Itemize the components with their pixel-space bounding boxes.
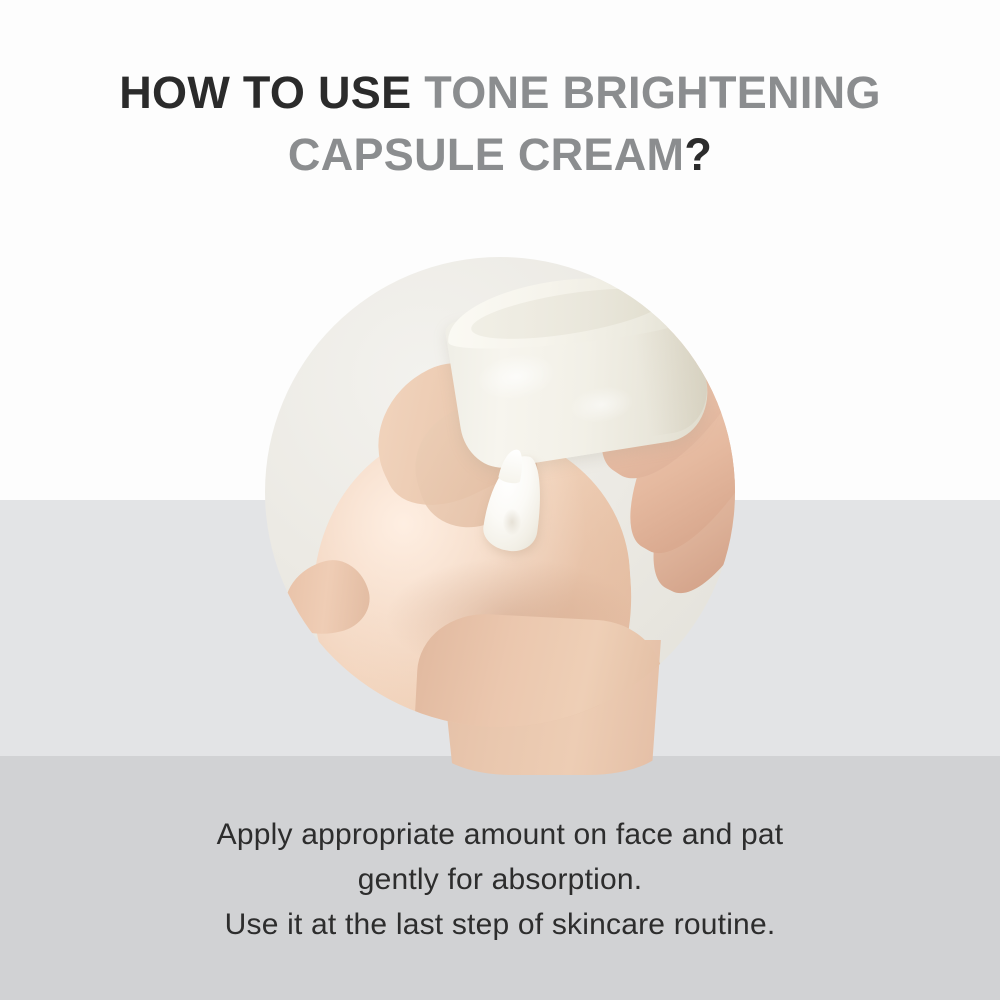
page-title-line-1-rest: TONE BRIGHTENING [424, 67, 881, 118]
usage-instructions: Apply appropriate amount on face and pat… [0, 812, 1000, 947]
background-band-middle [0, 500, 1000, 756]
page-title-emphasis: HOW TO USE [119, 67, 411, 118]
how-to-use-panel: HOW TO USE TONE BRIGHTENING CAPSULE CREA… [0, 0, 1000, 1000]
usage-instructions-line-1: Apply appropriate amount on face and pat [0, 812, 1000, 857]
page-title-question-mark: ? [684, 129, 712, 180]
page-title: HOW TO USE TONE BRIGHTENING CAPSULE CREA… [0, 62, 1000, 186]
page-title-line-2-rest: CAPSULE CREAM [288, 129, 684, 180]
usage-instructions-line-3: Use it at the last step of skincare rout… [0, 902, 1000, 947]
usage-instructions-line-2: gently for absorption. [0, 857, 1000, 902]
page-title-line-2: CAPSULE CREAM? [0, 124, 1000, 186]
page-title-line-1: HOW TO USE TONE BRIGHTENING [0, 62, 1000, 124]
